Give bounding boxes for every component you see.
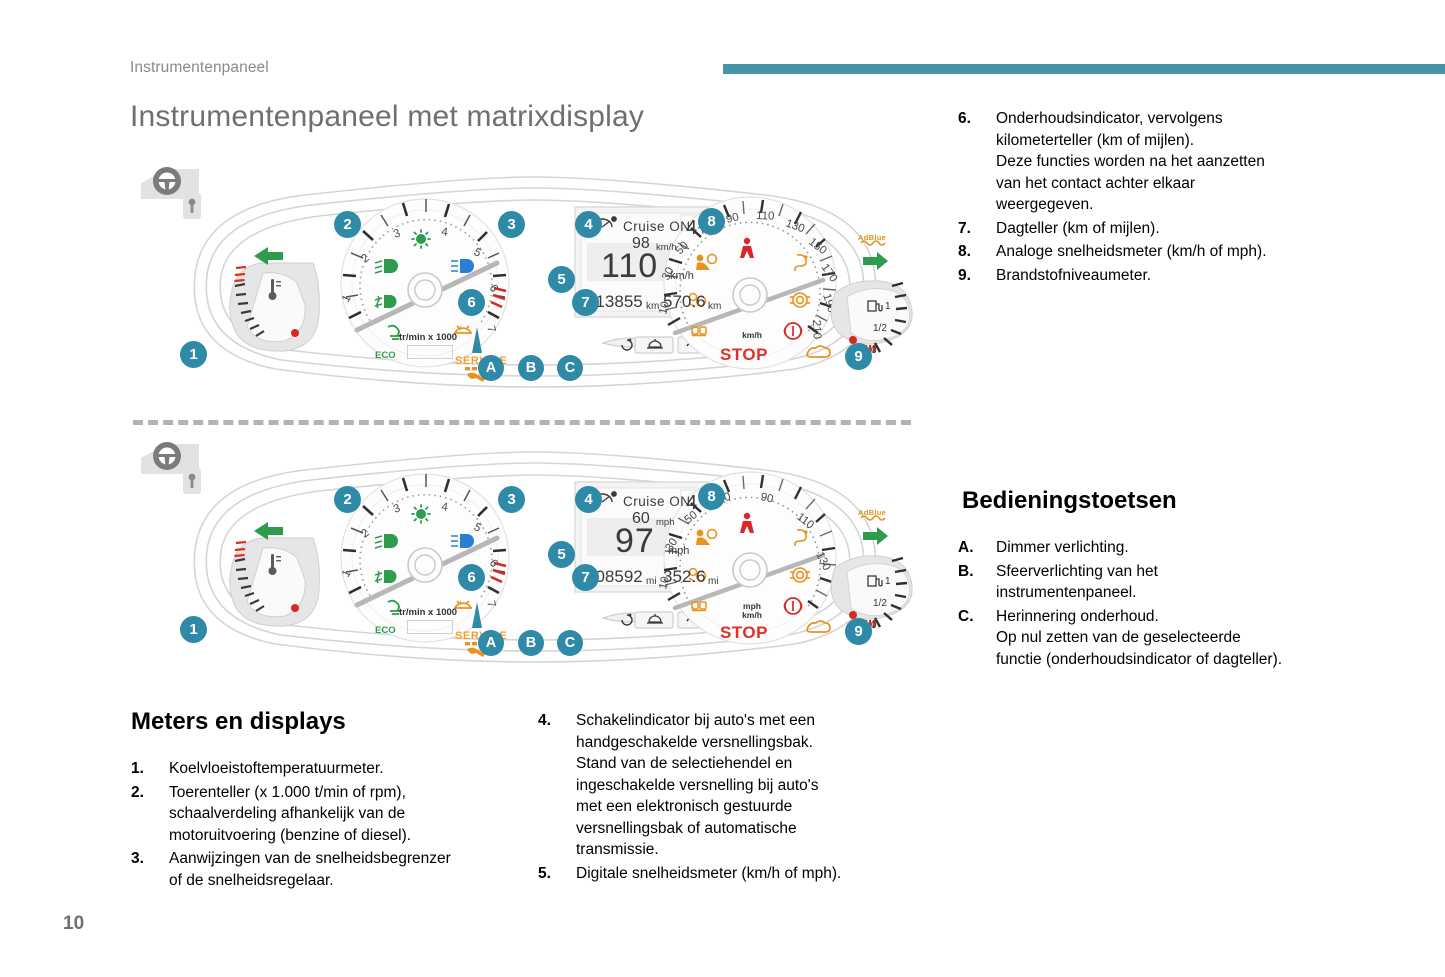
callout-1: 1 [180, 616, 207, 643]
list-item: 6.Onderhoudsindicator, vervolgenskilomet… [958, 108, 1358, 216]
odometer-unit: mi [646, 576, 657, 587]
list-item-number: 1. [131, 758, 169, 780]
coolant-temp-gauge [230, 522, 320, 626]
list-item-number: 5. [538, 863, 576, 885]
list-item-text: Onderhoudsindicator, vervolgenskilometer… [996, 108, 1265, 216]
cruise-speed-unit: km/h [656, 242, 677, 253]
callout-5: 5 [548, 541, 575, 568]
gear-indicator: 4 [686, 217, 697, 240]
fuel-full-label: 1 [885, 576, 891, 587]
list-item: 7.Dagteller (km of mijlen). [958, 218, 1358, 240]
callout-button-a: A [478, 355, 504, 381]
list-item-number: 2. [131, 782, 169, 847]
speedo-unit-secondary: km/h [735, 611, 769, 620]
steering-wheel-icon [141, 442, 201, 494]
fuel-half-label: 1/2 [873, 323, 887, 334]
adblue-label: AdBlue [858, 508, 886, 517]
list-item-number: 7. [958, 218, 996, 240]
list-item-number: C. [958, 606, 996, 671]
speedo-unit-label: km/h [735, 331, 769, 340]
speedo-tick-210: 210 [810, 320, 823, 340]
fuel-full-label: 1 [885, 301, 891, 312]
callout-4: 4 [575, 211, 602, 238]
gear-indicator: 4 [686, 492, 697, 515]
callout-button-c: C [557, 630, 583, 656]
list-item: 1.Koelvloeistoftemperatuurmeter. [131, 758, 511, 780]
trip-unit: km [708, 301, 721, 312]
stop-warning-label: STOP [720, 345, 768, 365]
callout-6: 6 [458, 564, 485, 591]
sidelights-icon [412, 230, 430, 248]
list-item-text: Digitale snelheidsmeter (km/h of mph). [576, 863, 841, 885]
cruise-speed-unit: mph [656, 517, 674, 528]
list-items-6-9: 6.Onderhoudsindicator, vervolgenskilomet… [958, 108, 1358, 288]
tacho-unit-label: tr/min x 1000 [399, 607, 457, 618]
list-item: 8.Analoge snelheidsmeter (km/h of mph). [958, 241, 1358, 263]
list-item-text: Schakelindicator bij auto's met eenhandg… [576, 710, 819, 861]
list-item: 5.Digitale snelheidsmeter (km/h of mph). [538, 863, 918, 885]
callout-2: 2 [334, 211, 361, 238]
callout-1: 1 [180, 341, 207, 368]
list-item-text: Sfeerverlichting van hetinstrumentenpane… [996, 561, 1158, 604]
left-turn-signal-icon [254, 522, 283, 540]
callout-4: 4 [575, 486, 602, 513]
digital-speed-unit: km/h [670, 270, 694, 282]
list-item-number: A. [958, 537, 996, 559]
list-item-text: Brandstofniveaumeter. [996, 265, 1151, 287]
list-item: B.Sfeerverlichting van hetinstrumentenpa… [958, 561, 1358, 604]
left-turn-signal-icon [254, 247, 283, 265]
tacho-unit-label: tr/min x 1000 [399, 332, 457, 343]
header-rule [723, 64, 1445, 74]
eco-label: ECO [375, 350, 396, 361]
callout-8: 8 [698, 208, 725, 235]
trip-value: 352.6 [663, 567, 706, 587]
page-title: Instrumentenpaneel met matrixdisplay [130, 100, 644, 134]
callout-7: 7 [572, 564, 599, 591]
callout-button-c: C [557, 355, 583, 381]
page-number: 10 [63, 913, 84, 935]
digital-speed: 110 [601, 247, 658, 286]
list-item-number: 9. [958, 265, 996, 287]
list-items-1-3: 1.Koelvloeistoftemperatuurmeter.2.Toeren… [131, 758, 511, 893]
trip-unit: mi [708, 576, 719, 587]
callout-3: 3 [498, 486, 525, 513]
chapter-label: Instrumentenpaneel [130, 59, 269, 77]
trip-value: 570.6 [663, 292, 706, 312]
list-item-number: 3. [131, 848, 169, 891]
list-item-text: Dimmer verlichting. [996, 537, 1129, 559]
eco-label: ECO [375, 625, 396, 636]
list-item-text: Koelvloeistoftemperatuurmeter. [169, 758, 384, 780]
list-item-text: Herinnering onderhoud.Op nul zetten van … [996, 606, 1282, 671]
callout-button-b: B [518, 630, 544, 656]
document-page: Instrumentenpaneel Instrumentenpaneel me… [0, 0, 1445, 977]
gear-box-placeholder [407, 620, 453, 634]
list-item-text: Analoge snelheidsmeter (km/h of mph). [996, 241, 1267, 263]
callout-2: 2 [334, 486, 361, 513]
instrument-cluster-imperial: 1 2 3 4 5 6 7 [135, 430, 935, 680]
callout-button-a: A [478, 630, 504, 656]
list-item: 4.Schakelindicator bij auto's met eenhan… [538, 710, 918, 861]
callout-3: 3 [498, 211, 525, 238]
figure-divider [133, 420, 911, 425]
gear-box-placeholder [407, 345, 453, 359]
fuel-level-gauge [831, 241, 912, 353]
high-beam-icon [451, 259, 474, 273]
odometer-unit: km [646, 301, 659, 312]
list-item-number: 6. [958, 108, 996, 216]
callout-7: 7 [572, 289, 599, 316]
meters-heading: Meters en displays [131, 708, 346, 736]
adblue-label: AdBlue [858, 233, 886, 242]
coolant-temp-gauge [230, 247, 320, 351]
fuel-level-gauge [831, 516, 912, 628]
speedo-tick-110: 110 [756, 210, 775, 223]
callout-5: 5 [548, 266, 575, 293]
callout-button-b: B [518, 355, 544, 381]
fuel-half-label: 1/2 [873, 598, 887, 609]
instrument-cluster-metric: 1 2 3 4 5 6 7 [135, 155, 935, 405]
list-item-text: Toerenteller (x 1.000 t/min of rpm),scha… [169, 782, 411, 847]
callout-6: 6 [458, 289, 485, 316]
list-item: 9.Brandstofniveaumeter. [958, 265, 1358, 287]
steering-wheel-icon [141, 167, 201, 219]
adblue-arrow-icon [863, 252, 888, 270]
list-items-4-5: 4.Schakelindicator bij auto's met eenhan… [538, 710, 918, 886]
list-items-abc: A.Dimmer verlichting.B.Sfeerverlichting … [958, 537, 1358, 672]
list-item-number: B. [958, 561, 996, 604]
controls-heading: Bedieningstoetsen [962, 487, 1177, 515]
list-item: C.Herinnering onderhoud.Op nul zetten va… [958, 606, 1358, 671]
stop-warning-label: STOP [720, 623, 768, 643]
svg-text:!: ! [459, 599, 462, 609]
cruise-status-label: Cruise ON [623, 219, 691, 234]
digital-speed: 97 [615, 522, 655, 561]
list-item: 2.Toerenteller (x 1.000 t/min of rpm),sc… [131, 782, 511, 847]
callout-8: 8 [698, 483, 725, 510]
callout-9: 9 [845, 618, 872, 645]
list-item: A.Dimmer verlichting. [958, 537, 1358, 559]
list-item: 3.Aanwijzingen van de snelheidsbegrenzer… [131, 848, 511, 891]
list-item-number: 8. [958, 241, 996, 263]
sidelights-icon [412, 505, 430, 523]
list-item-text: Aanwijzingen van de snelheidsbegrenzerof… [169, 848, 451, 891]
adblue-arrow-icon [863, 527, 888, 545]
cruise-status-label: Cruise ON [623, 494, 691, 509]
high-beam-icon [451, 534, 474, 548]
list-item-text: Dagteller (km of mijlen). [996, 218, 1160, 240]
callout-9: 9 [845, 343, 872, 370]
digital-speed-unit: mph [668, 545, 689, 557]
svg-text:!: ! [459, 324, 462, 334]
list-item-number: 4. [538, 710, 576, 861]
